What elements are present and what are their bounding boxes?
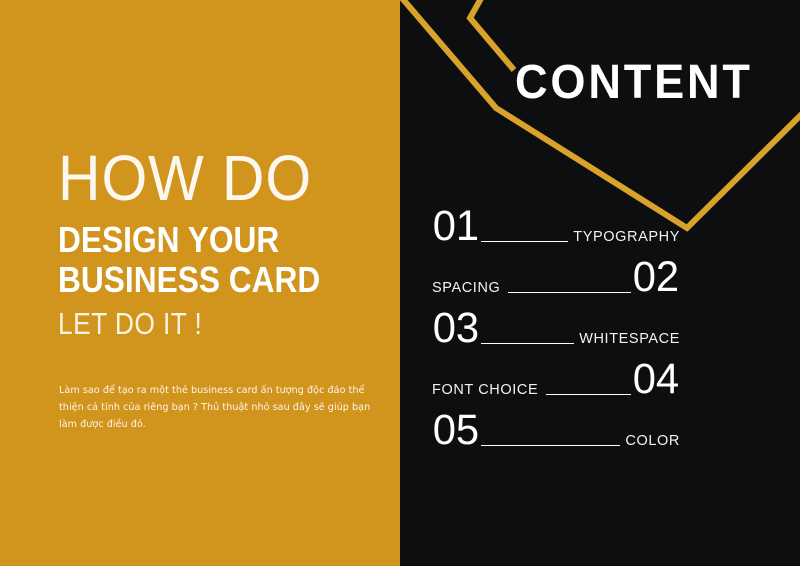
item-number: 03 [433,308,479,349]
headline-line-1: HOW DO [58,148,362,209]
headline-line-4: LET DO IT ! [58,307,339,341]
item-rule [481,445,621,446]
list-item[interactable]: 05 COLOR [432,400,680,451]
item-number: 01 [433,206,479,247]
outer-chevron-icon [400,0,800,228]
headline-block: HOW DO DESIGN YOUR BUSINESS CARD LET DO … [58,148,388,342]
item-rule [481,343,574,344]
headline-line-3: BUSINESS CARD [58,260,348,300]
item-label: TYPOGRAPHY [573,230,680,248]
list-item[interactable]: SPACING 02 [432,247,680,298]
item-label: WHITESPACE [579,332,680,350]
item-number: 05 [433,410,479,451]
slide-canvas: HOW DO DESIGN YOUR BUSINESS CARD LET DO … [0,0,800,566]
page-title: CONTENT [515,55,753,110]
list-item[interactable]: 03 WHITESPACE [432,298,680,349]
item-label: COLOR [625,434,680,452]
item-rule [481,241,568,242]
headline-line-2: DESIGN YOUR [58,220,348,260]
left-gold-panel: HOW DO DESIGN YOUR BUSINESS CARD LET DO … [0,0,400,566]
list-item[interactable]: 01 TYPOGRAPHY [432,196,680,247]
content-list: 01 TYPOGRAPHY SPACING 02 03 WHITESPACE F… [432,196,680,451]
inner-chevron-icon [470,0,514,70]
intro-paragraph: Làm sao để tạo ra một thẻ business card … [59,382,379,433]
item-number: 04 [633,359,679,400]
list-item[interactable]: FONT CHOICE 04 [432,349,680,400]
item-label: SPACING [432,281,500,299]
item-rule [508,292,631,293]
item-number: 02 [633,257,679,298]
item-label: FONT CHOICE [432,383,538,401]
item-rule [546,394,631,395]
